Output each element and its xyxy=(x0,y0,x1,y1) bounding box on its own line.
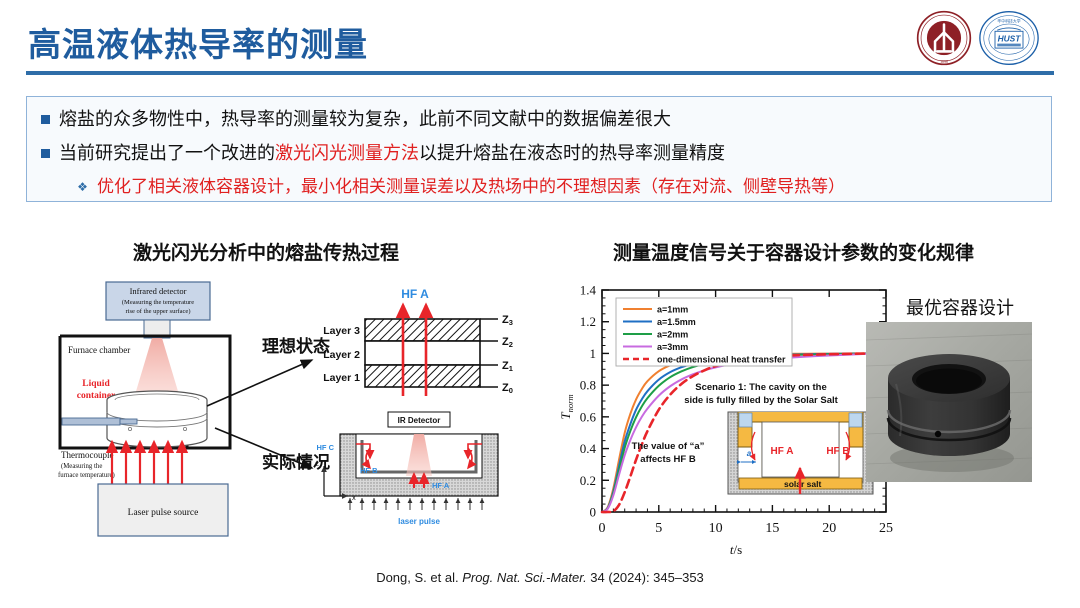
bullet-item: 当前研究提出了一个改进的激光闪光测量方法以提升熔盐在液态时的热导率测量精度 xyxy=(41,141,725,165)
inset-crucible: solar salt HF A HF B a xyxy=(728,412,873,494)
svg-text:Infrared detector: Infrared detector xyxy=(130,286,187,296)
optimal-crucible-photo xyxy=(866,322,1032,482)
ir-beam xyxy=(134,338,180,398)
chart-legend: a=1mma=1.5mma=2mma=3mmone-dimensional he… xyxy=(616,298,792,366)
x-axis-label: t/s xyxy=(730,542,742,557)
bullet-subitem: ❖ 优化了相关液体容器设计，最小化相关测量误差以及热场中的不理想因素（存在对流、… xyxy=(77,175,845,199)
page-title: 高温液体热导率的测量 xyxy=(28,18,368,66)
svg-text:furnace temperature): furnace temperature) xyxy=(58,472,115,479)
y-tick-label: 0.6 xyxy=(580,409,597,424)
hf-a-label-ideal: HF A xyxy=(401,287,429,301)
x-tick-label: 5 xyxy=(655,521,662,536)
scenario-annotation: Scenario 1: The cavity on the side is fu… xyxy=(684,382,838,406)
photo-caption: 最优容器设计 xyxy=(906,294,1014,320)
laser-pulse-source: Laser pulse source xyxy=(98,484,228,536)
actual-situation-label: 实际情况 xyxy=(262,448,330,473)
svg-text:Thermocouple: Thermocouple xyxy=(61,450,113,460)
bullet-text: 熔盐的众多物性中，热导率的测量较为复杂，此前不同文献中的数据偏差很大 xyxy=(59,109,671,129)
hust-logo: HUST 华中科技大学 xyxy=(978,10,1040,66)
y-tick-label: 0.2 xyxy=(580,473,596,488)
x-tick-label: 15 xyxy=(765,521,779,536)
y-tick-label: 1 xyxy=(590,346,597,361)
hf-a-label-actual: HF A xyxy=(432,481,450,490)
svg-text:rise of the upper surface): rise of the upper surface) xyxy=(126,308,191,315)
y-tick-label: 0.8 xyxy=(580,378,596,393)
z3-label: Z3 xyxy=(502,314,513,327)
bullet-text: 优化了相关液体容器设计，最小化相关测量误差以及热场中的不理想因素（存在对流、侧壁… xyxy=(97,177,845,196)
right-section-heading: 测量温度信号关于容器设计参数的变化规律 xyxy=(613,238,974,265)
z0-label: Z0 xyxy=(502,382,513,395)
svg-text:Laser pulse source: Laser pulse source xyxy=(128,508,199,518)
legend-entry: one-dimensional heat transfer xyxy=(657,354,786,364)
y-tick-label: 1.4 xyxy=(580,283,597,298)
laser-flash-diagram: Infrared detector (Measuring the tempera… xyxy=(40,272,550,557)
infrared-detector-box: Infrared detector (Measuring the tempera… xyxy=(106,282,210,338)
z2-label: Z2 xyxy=(502,336,513,349)
citation-authors: Dong, S. et al. xyxy=(376,570,462,585)
x-tick-label: 10 xyxy=(709,521,723,536)
connector-ideal xyxy=(207,360,312,406)
title-divider xyxy=(26,71,1054,75)
x-tick-label: 25 xyxy=(879,521,893,536)
inset-hf-b-label: HF B xyxy=(826,446,849,457)
svg-text:Furnace chamber: Furnace chamber xyxy=(68,345,130,355)
svg-text:affects HF B: affects HF B xyxy=(640,454,696,465)
bullet-text-tail: 以提升熔盐在液态时的热导率测量精度 xyxy=(419,143,725,163)
layer1-label: Layer 1 xyxy=(323,372,360,384)
legend-entry: a=2mm xyxy=(657,329,688,339)
layer-stack: Layer 3 Layer 2 Layer 1 Z3 Z2 Z1 Z0 HF A xyxy=(323,287,513,396)
svg-text:Scenario 1: The cavity on the: Scenario 1: The cavity on the xyxy=(695,382,826,393)
svg-text:The value of “a”: The value of “a” xyxy=(632,441,705,452)
legend-entry: a=3mm xyxy=(657,342,688,352)
y-tick-label: 0.4 xyxy=(580,441,597,456)
laser-pulse-label: laser pulse xyxy=(398,517,440,526)
citation: Dong, S. et al. Prog. Nat. Sci.-Mater. 3… xyxy=(0,570,1080,585)
inset-hf-a-label: HF A xyxy=(771,446,794,457)
slide-header: 高温液体热导率的测量 1898 HUST 华中科技大学 xyxy=(0,0,1080,88)
square-bullet-icon xyxy=(41,115,50,124)
solar-salt-label: solar salt xyxy=(784,479,821,489)
svg-text:华中科技大学: 华中科技大学 xyxy=(997,18,1021,23)
x-tick-label: 0 xyxy=(599,521,606,536)
diamond-bullet-icon: ❖ xyxy=(77,182,88,193)
svg-text:Liquid: Liquid xyxy=(82,379,110,389)
left-section-heading: 激光闪光分析中的熔盐传热过程 xyxy=(133,238,399,265)
ir-detector-label: IR Detector xyxy=(398,416,441,425)
legend-entry: a=1mm xyxy=(657,304,688,314)
x-tick-label: 20 xyxy=(822,521,836,536)
y-axis-label: Tnorm xyxy=(558,394,575,419)
z1-label: Z1 xyxy=(502,360,513,373)
y-tick-label: 1.2 xyxy=(580,314,596,329)
inset-a-label: a xyxy=(747,449,752,458)
svg-text:(Measuring the temperature: (Measuring the temperature xyxy=(122,299,194,306)
legend-entry: a=1.5mm xyxy=(657,317,696,327)
bullet-text: 当前研究提出了一个改进的 xyxy=(59,143,275,163)
svg-text:HUST: HUST xyxy=(998,33,1022,43)
a-value-annotation: The value of “a” affects HF B xyxy=(632,441,705,465)
citation-rest: 34 (2024): 345–353 xyxy=(587,570,704,585)
ideal-state-label: 理想状态 xyxy=(262,332,330,357)
axis-x-label: x xyxy=(352,493,356,502)
bullet-highlight: 激光闪光测量方法 xyxy=(275,143,419,163)
bullet-item: 熔盐的众多物性中，热导率的测量较为复杂，此前不同文献中的数据偏差很大 xyxy=(41,107,671,131)
y-tick-label: 0 xyxy=(590,505,597,520)
square-bullet-icon xyxy=(41,149,50,158)
svg-text:(Measuring the: (Measuring the xyxy=(61,463,102,470)
hf-b-label: HF B xyxy=(360,466,378,475)
bullet-panel: 熔盐的众多物性中，热导率的测量较为复杂，此前不同文献中的数据偏差很大 当前研究提… xyxy=(26,96,1052,202)
actual-crucible-diagram: IR Detector HF C HF B HF A xyxy=(315,412,498,526)
citation-journal: Prog. Nat. Sci.-Mater. xyxy=(462,570,587,585)
chart-canvas: 00.20.40.60.811.21.4 0510152025 a=1mma=1… xyxy=(556,272,916,562)
peking-university-logo: 1898 xyxy=(916,10,972,66)
svg-text:1898: 1898 xyxy=(940,60,948,64)
svg-text:side is fully filled by the So: side is fully filled by the Solar Salt xyxy=(684,395,838,406)
